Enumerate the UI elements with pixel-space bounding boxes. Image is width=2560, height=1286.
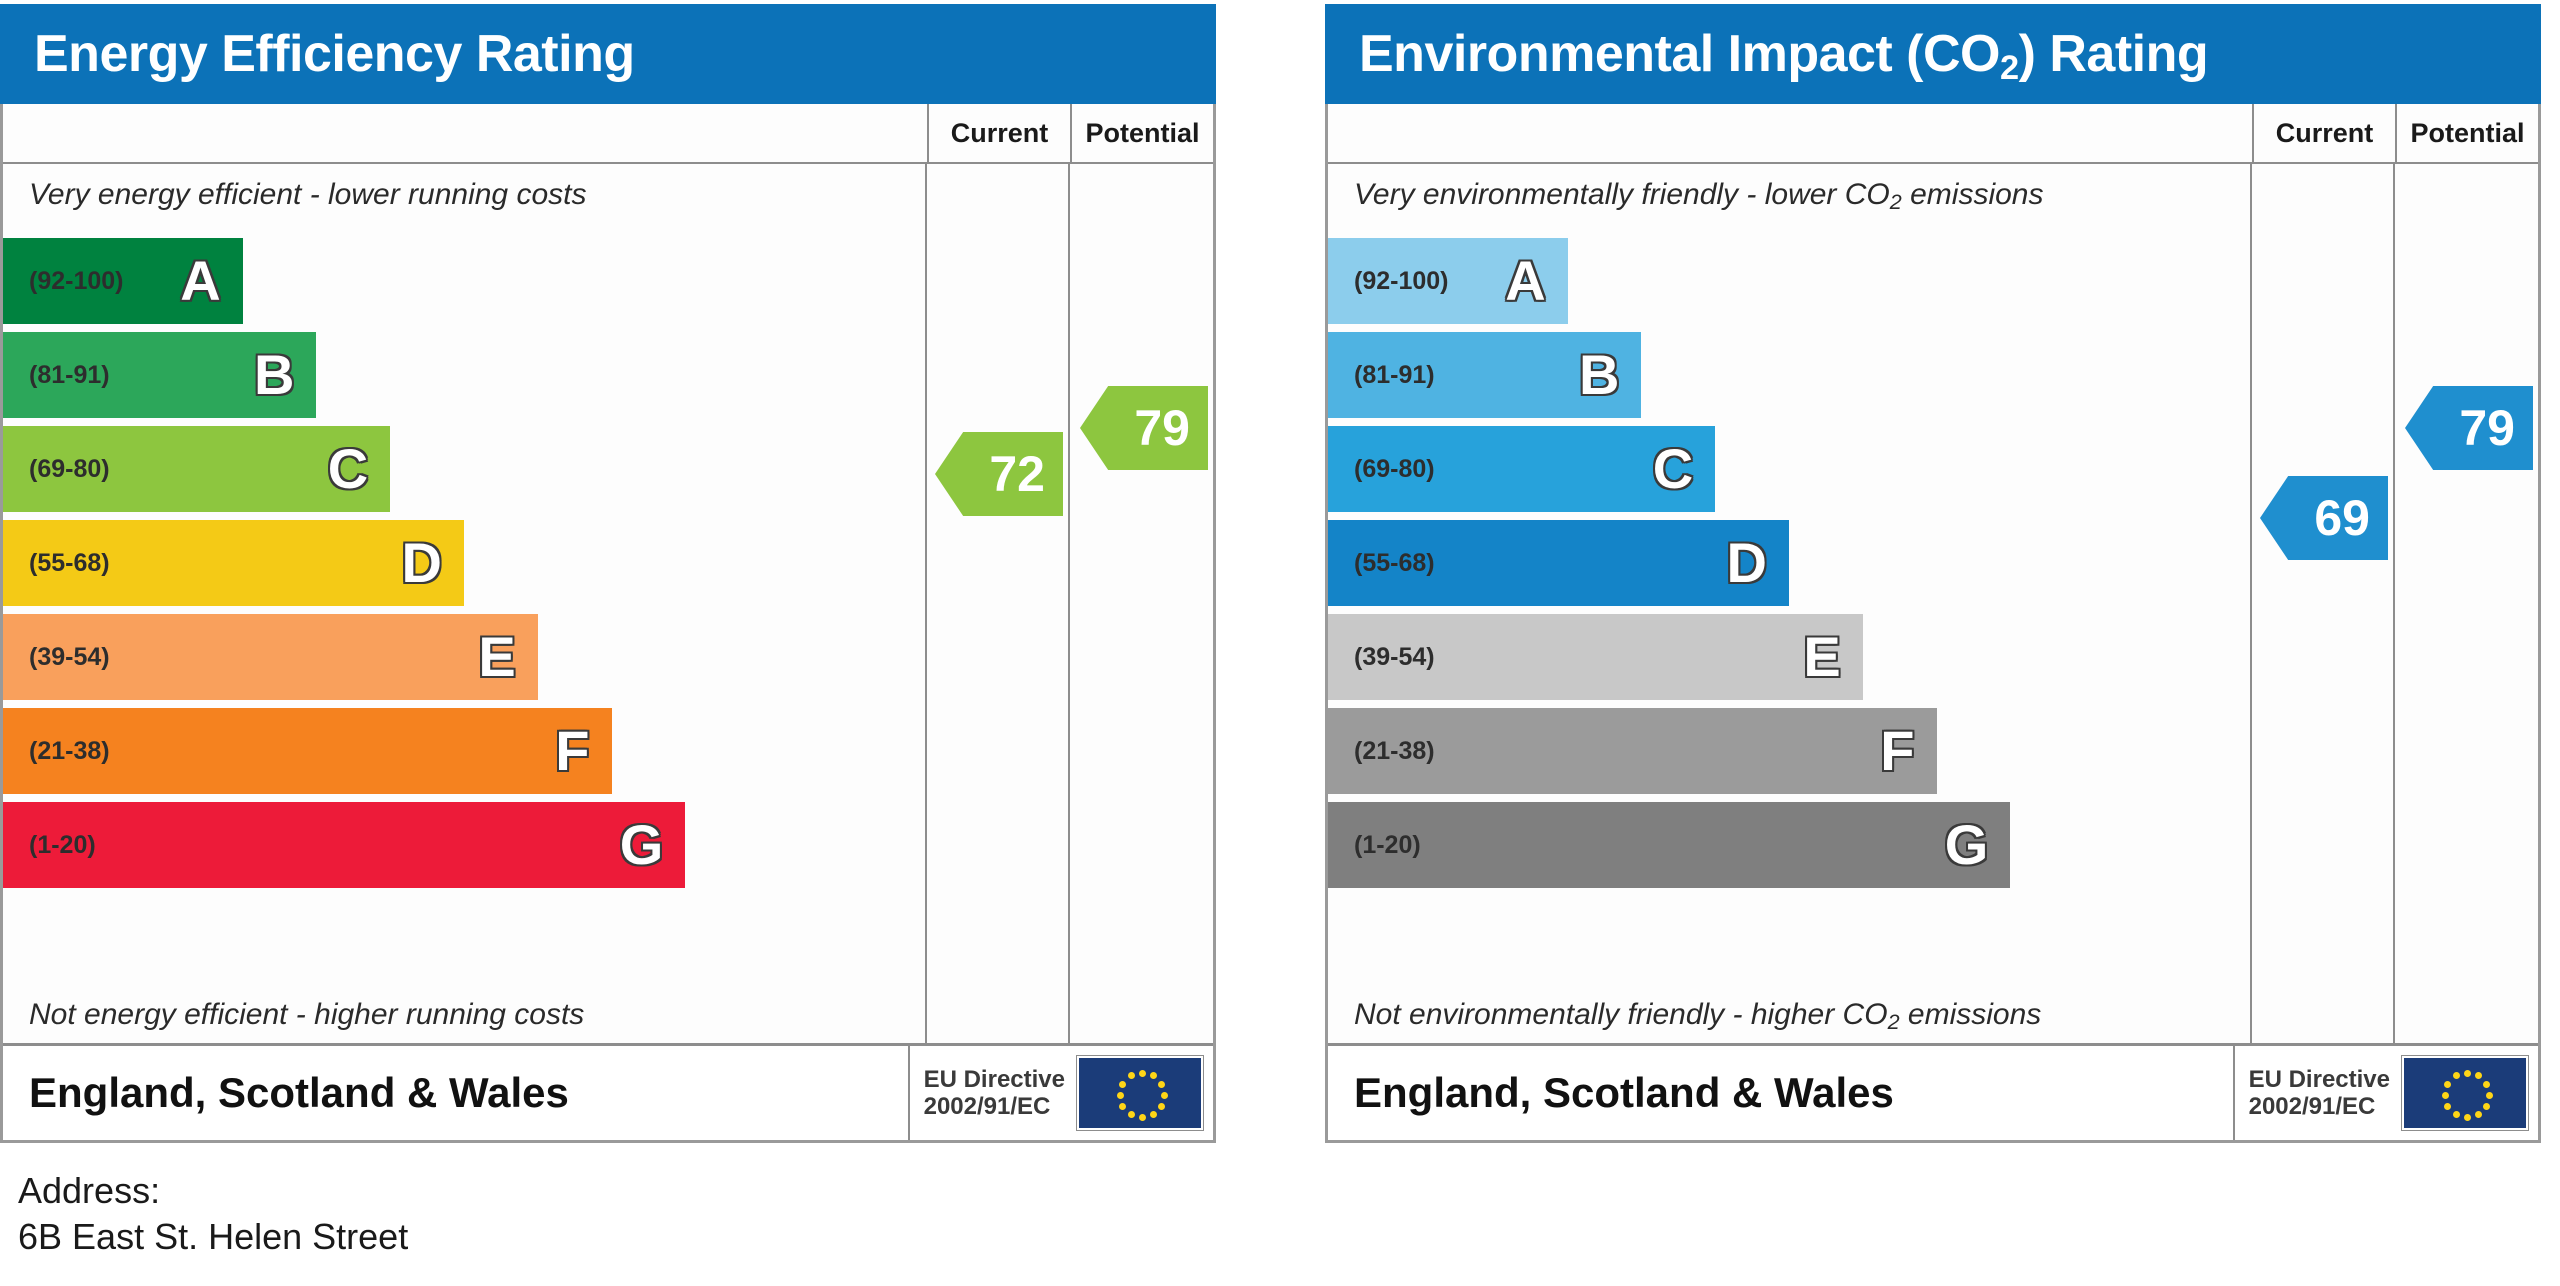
energy-current-column-header: Current [927, 104, 1070, 162]
eu-flag-icon [1077, 1056, 1203, 1130]
eu-flag-star [1119, 1103, 1126, 1110]
address-block: Address: 6B East St. Helen Street [18, 1168, 408, 1260]
co2-caption-bottom-subscript: 2 [1888, 1009, 1900, 1034]
co2-panel-header: Environmental Impact (CO2) Rating [1325, 4, 2541, 104]
co2-band-b-range: (81-91) [1354, 361, 1435, 390]
co2-caption-top-subscript: 2 [1890, 189, 1902, 214]
eu-flag-star [1139, 1114, 1146, 1121]
energy-band-g-range: (1-20) [29, 831, 96, 860]
co2-band-g-letter: G [1945, 817, 1989, 873]
co2-current-rating-value: 69 [2314, 489, 2370, 547]
co2-caption-bottom-suffix: emissions [1900, 998, 2042, 1031]
eu-flag-star [1139, 1070, 1146, 1077]
energy-directive-line2: 2002/91/EC [924, 1093, 1065, 1120]
energy-band-g: (1-20) G [3, 802, 685, 888]
co2-potential-rating-arrow: 79 [2405, 386, 2533, 470]
energy-caption-bottom: Not energy efficient - higher running co… [29, 998, 584, 1032]
co2-potential-column-header: Potential [2395, 104, 2538, 162]
energy-band-c-letter: C [328, 441, 368, 497]
environmental-impact-panel: Environmental Impact (CO2) Rating Curren… [1325, 4, 2541, 1143]
eu-flag-star [1128, 1111, 1135, 1118]
energy-potential-rating-value: 79 [1134, 399, 1190, 457]
co2-title-subscript: 2 [2000, 49, 2019, 87]
co2-potential-rating-value: 79 [2459, 399, 2515, 457]
co2-current-column-header: Current [2252, 104, 2395, 162]
address-label: Address: [18, 1168, 408, 1214]
energy-band-e-letter: E [478, 629, 515, 685]
co2-current-column-divider [2250, 164, 2252, 1044]
eu-flag-star [1150, 1072, 1157, 1079]
energy-panel-body: Current Potential Very energy efficient … [0, 104, 1216, 1143]
eu-flag-star [2483, 1103, 2490, 1110]
energy-footer-region: England, Scotland & Wales [3, 1069, 908, 1117]
energy-directive-text: EU Directive 2002/91/EC [924, 1066, 1065, 1121]
eu-flag-star [1158, 1081, 1165, 1088]
co2-panel-body: Current Potential Very environmentally f… [1325, 104, 2541, 1143]
energy-band-b-letter: B [254, 347, 294, 403]
energy-band-d: (55-68) D [3, 520, 464, 606]
co2-band-g-range: (1-20) [1354, 831, 1421, 860]
eu-flag-star [2486, 1092, 2493, 1099]
energy-footer-directive: EU Directive 2002/91/EC [908, 1046, 1213, 1140]
co2-band-a-range: (92-100) [1354, 267, 1449, 296]
address-line-1: 6B East St. Helen Street [18, 1214, 408, 1260]
energy-potential-column-header: Potential [1070, 104, 1213, 162]
co2-panel-footer: England, Scotland & Wales EU Directive 2… [1328, 1043, 2538, 1140]
co2-column-header-spacer [1328, 104, 2252, 162]
co2-title-prefix: Environmental Impact (CO [1359, 25, 2000, 83]
energy-panel-header: Energy Efficiency Rating [0, 4, 1216, 104]
energy-band-b-range: (81-91) [29, 361, 110, 390]
co2-band-e: (39-54) E [1328, 614, 1863, 700]
energy-band-e: (39-54) E [3, 614, 538, 700]
co2-caption-top-suffix: emissions [1902, 178, 2044, 211]
energy-band-d-range: (55-68) [29, 549, 110, 578]
energy-potential-column-divider [1068, 164, 1070, 1044]
co2-title-suffix: ) Rating [2019, 25, 2209, 83]
energy-band-b: (81-91) B [3, 332, 316, 418]
co2-band-d-letter: D [1727, 535, 1767, 591]
eu-flag-star [2444, 1081, 2451, 1088]
eu-flag-star [1158, 1103, 1165, 1110]
eu-flag-star [1128, 1072, 1135, 1079]
co2-band-d: (55-68) D [1328, 520, 1789, 606]
energy-band-g-letter: G [620, 817, 664, 873]
eu-flag-star [1161, 1092, 1168, 1099]
energy-band-a: (92-100) A [3, 238, 243, 324]
eu-flag-star [2442, 1092, 2449, 1099]
energy-band-a-range: (92-100) [29, 267, 124, 296]
energy-band-f-range: (21-38) [29, 737, 110, 766]
epc-page: Energy Efficiency Rating Current Potenti… [0, 0, 2560, 1286]
co2-band-f: (21-38) F [1328, 708, 1937, 794]
co2-band-e-range: (39-54) [1354, 643, 1435, 672]
co2-caption-bottom-prefix: Not environmentally friendly - higher CO [1354, 998, 1888, 1031]
eu-flag-star [2483, 1081, 2490, 1088]
co2-caption-top-prefix: Very environmentally friendly - lower CO [1354, 178, 1890, 211]
co2-band-f-letter: F [1880, 723, 1914, 779]
energy-panel-footer: England, Scotland & Wales EU Directive 2… [3, 1043, 1213, 1140]
co2-footer-region: England, Scotland & Wales [1328, 1069, 2233, 1117]
co2-footer-directive: EU Directive 2002/91/EC [2233, 1046, 2538, 1140]
energy-current-column-divider [925, 164, 927, 1044]
co2-caption-bottom: Not environmentally friendly - higher CO… [1354, 998, 2041, 1032]
co2-caption-top: Very environmentally friendly - lower CO… [1354, 178, 2043, 212]
co2-directive-text: EU Directive 2002/91/EC [2249, 1066, 2390, 1121]
eu-flag-icon [2402, 1056, 2528, 1130]
energy-panel-title: Energy Efficiency Rating [34, 24, 635, 84]
co2-band-b-letter: B [1579, 347, 1619, 403]
co2-column-header-row: Current Potential [1328, 104, 2538, 164]
eu-flag-star [2453, 1072, 2460, 1079]
energy-column-header-spacer [3, 104, 927, 162]
energy-caption-top: Very energy efficient - lower running co… [29, 178, 586, 212]
co2-directive-line2: 2002/91/EC [2249, 1093, 2390, 1120]
co2-potential-column-divider [2393, 164, 2395, 1044]
co2-band-d-range: (55-68) [1354, 549, 1435, 578]
energy-current-rating-arrow: 72 [935, 432, 1063, 516]
energy-band-c-range: (69-80) [29, 455, 110, 484]
co2-current-rating-arrow: 69 [2260, 476, 2388, 560]
energy-band-f-letter: F [555, 723, 589, 779]
co2-band-f-range: (21-38) [1354, 737, 1435, 766]
energy-band-c: (69-80) C [3, 426, 390, 512]
co2-band-b: (81-91) B [1328, 332, 1641, 418]
eu-flag-star [2475, 1072, 2482, 1079]
co2-band-c: (69-80) C [1328, 426, 1715, 512]
eu-flag-star [1117, 1092, 1124, 1099]
co2-directive-line1: EU Directive [2249, 1066, 2390, 1093]
energy-band-e-range: (39-54) [29, 643, 110, 672]
co2-band-a: (92-100) A [1328, 238, 1568, 324]
energy-efficiency-panel: Energy Efficiency Rating Current Potenti… [0, 4, 1216, 1143]
energy-potential-rating-arrow: 79 [1080, 386, 1208, 470]
energy-directive-line1: EU Directive [924, 1066, 1065, 1093]
eu-flag-star [2464, 1114, 2471, 1121]
eu-flag-star [2453, 1111, 2460, 1118]
eu-flag-star [1150, 1111, 1157, 1118]
eu-flag-star [2444, 1103, 2451, 1110]
eu-flag-star [1119, 1081, 1126, 1088]
co2-band-g: (1-20) G [1328, 802, 2010, 888]
co2-bars-area: Very environmentally friendly - lower CO… [1328, 164, 2250, 1044]
co2-band-a-letter: A [1505, 253, 1545, 309]
co2-band-e-letter: E [1803, 629, 1840, 685]
energy-band-a-letter: A [180, 253, 220, 309]
energy-band-f: (21-38) F [3, 708, 612, 794]
energy-current-rating-value: 72 [989, 445, 1045, 503]
energy-band-d-letter: D [402, 535, 442, 591]
co2-panel-title: Environmental Impact (CO2) Rating [1359, 24, 2208, 84]
energy-column-header-row: Current Potential [3, 104, 1213, 164]
co2-band-c-range: (69-80) [1354, 455, 1435, 484]
eu-flag-star [2464, 1070, 2471, 1077]
co2-chart-zone: Very environmentally friendly - lower CO… [1328, 164, 2538, 1044]
eu-flag-star [2475, 1111, 2482, 1118]
energy-bars-area: Very energy efficient - lower running co… [3, 164, 925, 1044]
co2-band-c-letter: C [1653, 441, 1693, 497]
energy-chart-zone: Very energy efficient - lower running co… [3, 164, 1213, 1044]
